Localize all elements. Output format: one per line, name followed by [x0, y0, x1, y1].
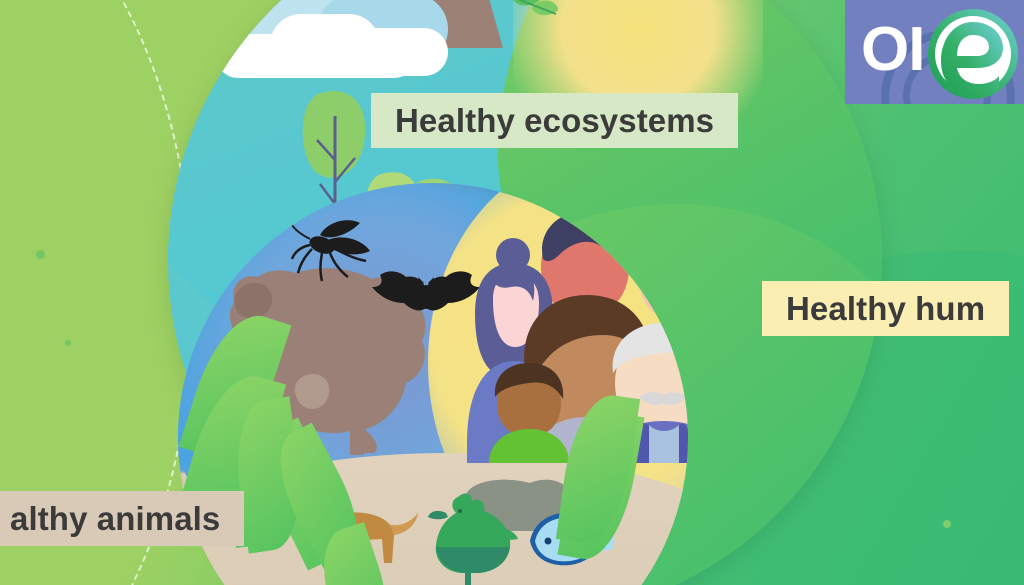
one-health-banner: Healthy ecosystems Healthy hum althy ani… [0, 0, 1024, 585]
label-text: Healthy ecosystems [395, 102, 714, 140]
label-text: Healthy hum [786, 290, 985, 328]
child [489, 363, 569, 463]
mosquito-icon [286, 211, 378, 289]
logo-emblem-e-icon [925, 6, 1021, 102]
leaf-sprig-icon [506, 0, 566, 22]
label-text: althy animals [10, 500, 220, 538]
chicken-icon [424, 491, 520, 585]
label-healthy-animals: althy animals [0, 491, 244, 546]
logo-text: OI [861, 14, 924, 85]
cloud-large [198, 0, 448, 56]
label-healthy-humans: Healthy hum [762, 281, 1009, 336]
label-healthy-ecosystems: Healthy ecosystems [371, 93, 738, 148]
humans-group [463, 193, 688, 463]
oie-logo[interactable]: OI [845, 0, 1024, 104]
